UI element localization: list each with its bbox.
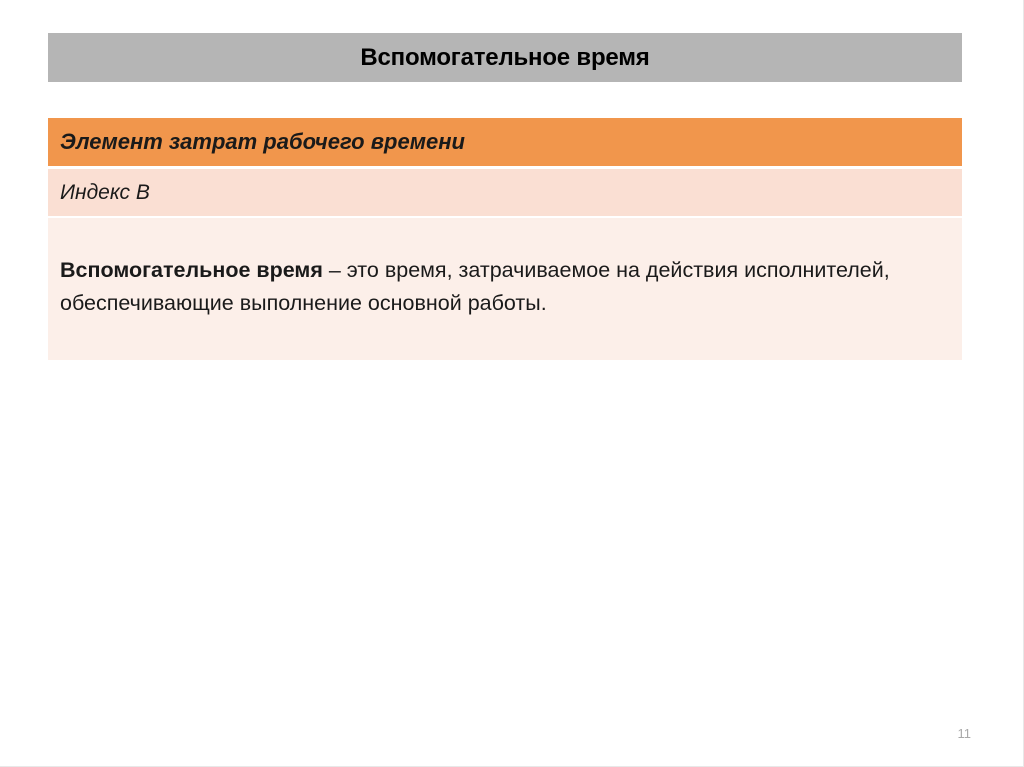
table-row-definition: Вспомогательное время – это время, затра…	[48, 218, 962, 360]
slide-canvas: Вспомогательное время Элемент затрат раб…	[0, 0, 1024, 767]
page-title: Вспомогательное время	[360, 46, 649, 70]
table-index-label: Индекс В	[60, 181, 150, 204]
table-row-header: Элемент затрат рабочего времени	[48, 118, 962, 166]
definition-table: Элемент затрат рабочего времени Индекс В…	[48, 118, 962, 360]
definition-term: Вспомогательное время	[60, 258, 323, 282]
table-header-label: Элемент затрат рабочего времени	[60, 130, 465, 154]
definition-paragraph: Вспомогательное время – это время, затра…	[60, 254, 948, 321]
table-row-index: Индекс В	[48, 169, 962, 216]
page-number: 11	[958, 727, 972, 740]
slide-title-bar: Вспомогательное время	[48, 33, 962, 82]
